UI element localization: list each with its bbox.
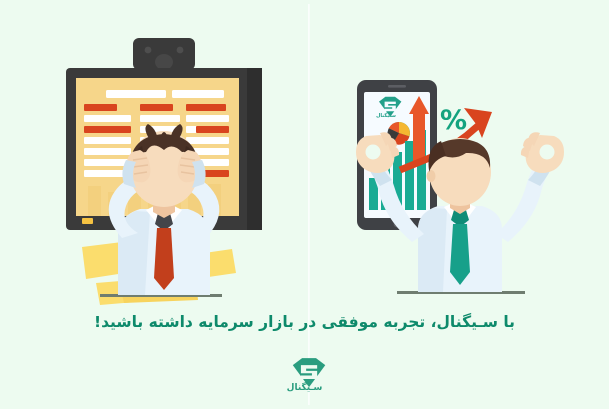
phone-speaker — [388, 85, 406, 88]
brand-wordmark: سـیگنال — [0, 383, 609, 393]
percent-symbol: % — [440, 105, 467, 136]
monitor-camera-housing — [133, 38, 195, 70]
tagline-text: با سـیگنال، تجربه موفقی در بازار سرمایه … — [0, 312, 609, 333]
necktie — [154, 228, 174, 290]
phone-app-wordmark: سـیگنال — [364, 113, 408, 119]
scene-divider — [308, 4, 309, 405]
necktie — [450, 224, 470, 285]
illustration-artwork — [0, 0, 609, 409]
monitor-power-led — [82, 218, 93, 224]
left-scene-group — [66, 38, 262, 305]
poster-canvas: % سـیگنال با سـیگنال، تجربه موفقی در باز… — [0, 0, 609, 409]
